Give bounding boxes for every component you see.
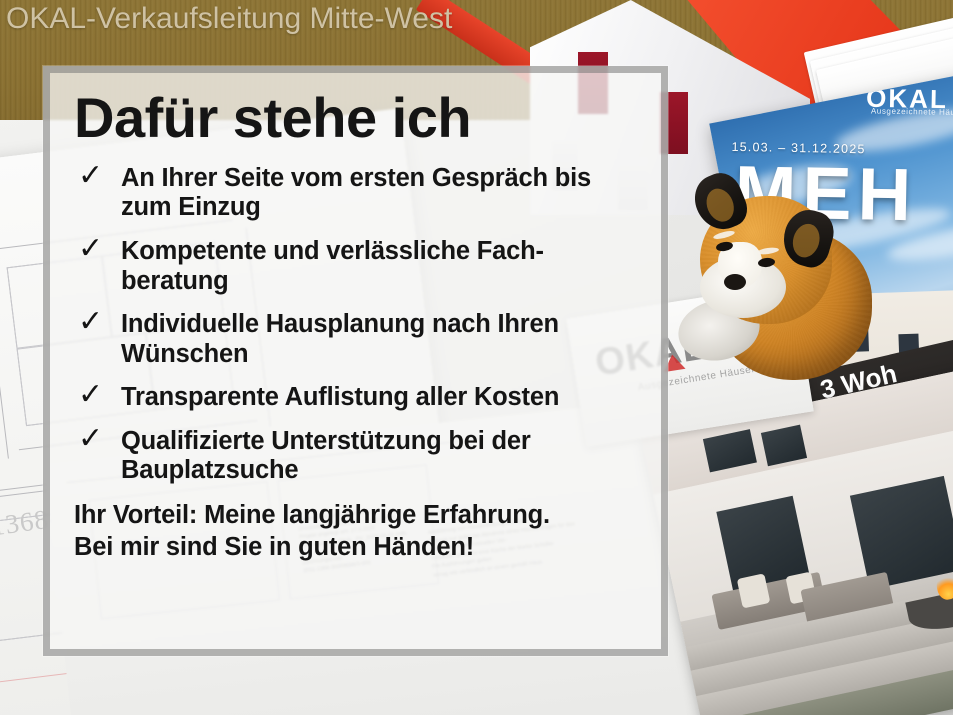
flyer-tagline: Ausgezeichnete Häuser — [871, 106, 953, 117]
closing-line-2: Bei mir sind Sie in guten Händen! — [74, 532, 643, 564]
check-icon: ✓ — [78, 424, 103, 454]
card-headline: Dafür stehe ich — [74, 89, 643, 148]
closing-line-1: Ihr Vorteil: Meine langjährige Erfahrung… — [74, 501, 550, 529]
list-item: ✓ An Ihrer Seite vom ersten Gespräch bis… — [72, 164, 643, 223]
page-title: OKAL-Verkaufsleitung Mitte-West — [6, 2, 452, 36]
list-item-label: Kompetente und verlässliche Fach-beratun… — [121, 237, 544, 295]
benefits-list: ✓ An Ihrer Seite vom ersten Gespräch bis… — [72, 164, 643, 486]
list-item: ✓ Kompetente und verlässliche Fach-berat… — [72, 237, 643, 296]
list-item-label: Individuelle Hausplanung nach Ihren Wüns… — [121, 310, 559, 368]
check-icon: ✓ — [78, 161, 103, 191]
plush-fox-figurine — [672, 168, 882, 383]
list-item: ✓ Individuelle Hausplanung nach Ihren Wü… — [72, 310, 643, 369]
screenshot-stage: 1368-30009688 Datum: Unterschrift Bauher… — [0, 0, 953, 715]
list-item: ✓ Qualifizierte Unterstützung bei der Ba… — [72, 427, 643, 486]
list-item-label: Qualifizierte Unterstützung bei der Baup… — [121, 427, 531, 485]
list-item-label: Transparente Auflistung aller Kosten — [121, 383, 559, 411]
list-item-label: An Ihrer Seite vom ersten Gespräch bis z… — [121, 164, 591, 222]
check-icon: ✓ — [78, 380, 103, 410]
check-icon: ✓ — [78, 234, 103, 264]
list-item: ✓ Transparente Auflistung aller Kosten — [72, 383, 643, 413]
overlay-text-card: Dafür stehe ich ✓ An Ihrer Seite vom ers… — [43, 66, 668, 656]
closing-statement: Ihr Vorteil: Meine langjährige Erfahrung… — [74, 500, 643, 564]
check-icon: ✓ — [78, 307, 103, 337]
fox-nose — [724, 274, 746, 290]
